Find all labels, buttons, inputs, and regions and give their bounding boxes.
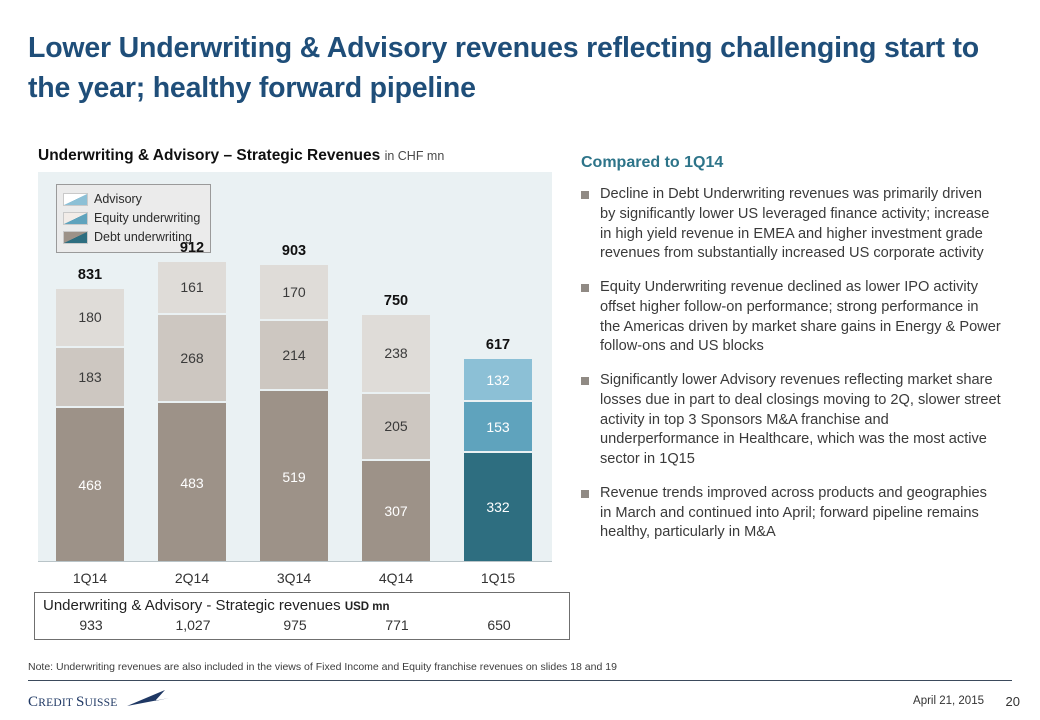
footnote: Note: Underwriting revenues are also inc…: [28, 661, 1008, 673]
legend-label-advisory: Advisory: [94, 193, 142, 206]
x-axis-label-1q15: 1Q15: [464, 570, 532, 586]
commentary-bullet-list: Decline in Debt Underwriting revenues wa…: [581, 185, 1001, 557]
chart-baseline: [38, 561, 552, 562]
bar-segment-equity-underwriting-1q15: 153: [464, 402, 532, 452]
bar-1q14: 180183468: [56, 289, 124, 562]
legend-swatch-advisory: [63, 193, 88, 206]
footer-divider: [28, 680, 1012, 681]
commentary-bullet-text: Decline in Debt Underwriting revenues wa…: [600, 185, 1001, 264]
bar-total-3q14: 903: [260, 243, 328, 259]
usd-revenue-table: Underwriting & Advisory - Strategic reve…: [34, 592, 570, 640]
logo-c: C: [28, 694, 38, 710]
logo-s: S: [76, 694, 85, 710]
chart-plot-area: Advisory Equity underwriting Debt underw…: [38, 172, 552, 562]
bullet-square-icon: [581, 490, 589, 498]
logo-redit: REDIT: [38, 697, 76, 709]
bar-segment-debt-underwriting-3q14: 519: [260, 391, 328, 562]
bar-segment-advisory-4q14: 238: [362, 315, 430, 393]
bar-total-1q15: 617: [464, 337, 532, 353]
usd-value-1q14: 933: [57, 617, 125, 633]
usd-value-3q14: 975: [261, 617, 329, 633]
usd-value-4q14: 771: [363, 617, 431, 633]
commentary-bullet-text: Equity Underwriting revenue declined as …: [600, 278, 1001, 357]
bar-segment-debt-underwriting-1q14: 468: [56, 408, 124, 562]
bar-total-2q14: 912: [158, 240, 226, 256]
bar-segment-advisory-2q14: 161: [158, 262, 226, 315]
commentary-bullet: Decline in Debt Underwriting revenues wa…: [581, 185, 1001, 264]
credit-suisse-logo: CREDIT SUISSE: [28, 688, 208, 714]
bar-4q14: 238205307: [362, 315, 430, 562]
bar-segment-debt-underwriting-2q14: 483: [158, 403, 226, 562]
bar-segment-equity-underwriting-1q14: 183: [56, 348, 124, 408]
bar-segment-advisory-3q14: 170: [260, 265, 328, 321]
bar-segment-debt-underwriting-1q15: 332: [464, 453, 532, 562]
slide-page-number: 20: [1006, 694, 1020, 709]
commentary-bullet-text: Significantly lower Advisory revenues re…: [600, 371, 1001, 470]
chart-title: Underwriting & Advisory – Strategic Reve…: [38, 147, 444, 165]
chart-unit-label: in CHF mn: [385, 149, 445, 163]
commentary-bullet-text: Revenue trends improved across products …: [600, 484, 1001, 543]
bar-segment-equity-underwriting-2q14: 268: [158, 315, 226, 403]
logo-swoosh-icon: [125, 688, 171, 710]
x-axis-label-1q14: 1Q14: [56, 570, 124, 586]
x-axis-label-3q14: 3Q14: [260, 570, 328, 586]
usd-value-1q15: 650: [465, 617, 533, 633]
legend-item-equity-underwriting[interactable]: Equity underwriting: [63, 209, 200, 228]
bullet-square-icon: [581, 191, 589, 199]
bar-segment-equity-underwriting-3q14: 214: [260, 321, 328, 391]
usd-table-title-text: Underwriting & Advisory - Strategic reve…: [43, 597, 341, 614]
logo-wordmark: CREDIT SUISSE: [28, 694, 117, 711]
slide-title: Lower Underwriting & Advisory revenues r…: [28, 28, 1018, 109]
bar-segment-debt-underwriting-4q14: 307: [362, 461, 430, 562]
x-axis-label-2q14: 2Q14: [158, 570, 226, 586]
commentary-bullet: Revenue trends improved across products …: [581, 484, 1001, 543]
legend-label-equity-underwriting: Equity underwriting: [94, 212, 200, 225]
legend-swatch-debt-underwriting: [63, 231, 88, 244]
bar-total-4q14: 750: [362, 293, 430, 309]
commentary-bullet: Significantly lower Advisory revenues re…: [581, 371, 1001, 470]
bullet-square-icon: [581, 377, 589, 385]
usd-table-title: Underwriting & Advisory - Strategic reve…: [43, 597, 390, 614]
bar-total-1q14: 831: [56, 267, 124, 283]
legend-item-advisory[interactable]: Advisory: [63, 190, 200, 209]
bullet-square-icon: [581, 284, 589, 292]
comparison-heading: Compared to 1Q14: [581, 154, 723, 172]
commentary-bullet: Equity Underwriting revenue declined as …: [581, 278, 1001, 357]
legend-swatch-equity-underwriting: [63, 212, 88, 225]
bar-2q14: 161268483: [158, 262, 226, 562]
slide-date: April 21, 2015: [913, 695, 984, 707]
bar-segment-advisory-1q15: 132: [464, 359, 532, 402]
bar-segment-advisory-1q14: 180: [56, 289, 124, 348]
x-axis-label-4q14: 4Q14: [362, 570, 430, 586]
bar-3q14: 170214519: [260, 265, 328, 562]
usd-value-2q14: 1,027: [159, 617, 227, 633]
chart-title-text: Underwriting & Advisory – Strategic Reve…: [38, 147, 380, 164]
bar-1q15: 132153332: [464, 359, 532, 562]
bar-segment-equity-underwriting-4q14: 205: [362, 394, 430, 461]
logo-uisse: UISSE: [85, 697, 118, 709]
usd-table-unit: USD mn: [345, 601, 390, 613]
